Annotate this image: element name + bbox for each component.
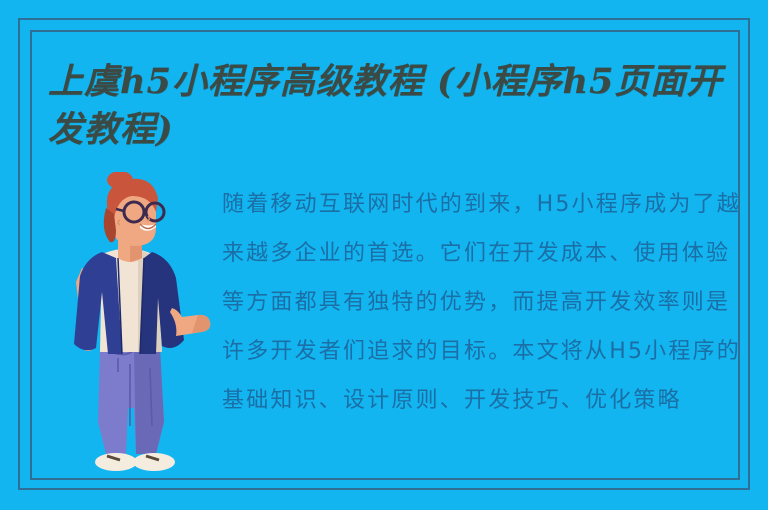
jacket-left-panel: [74, 252, 122, 354]
article-body: 随着移动互联网时代的到来，H5小程序成为了越来越多企业的首选。它们在开发成本、使…: [222, 180, 750, 465]
shoe-right: [133, 453, 175, 471]
page-title: 上虞h5小程序高级教程 (小程序h5页面开发教程): [48, 58, 738, 154]
jacket-right-panel: [140, 252, 184, 354]
poster-canvas: 上虞h5小程序高级教程 (小程序h5页面开发教程): [0, 0, 768, 510]
standing-person-illustration: [52, 172, 212, 482]
trousers-shadow: [134, 348, 164, 454]
shoe-left: [95, 453, 137, 471]
person-figure-svg: [52, 172, 212, 482]
